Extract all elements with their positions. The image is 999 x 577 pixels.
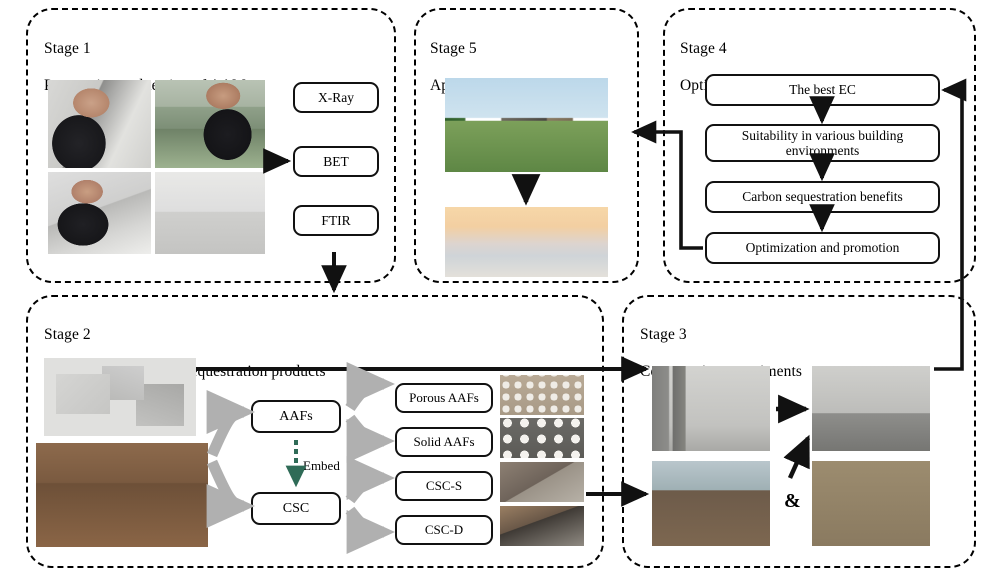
stage-3-photo-soil-panel — [812, 461, 930, 546]
stage-2-photo-blue-panels — [36, 443, 208, 547]
stage-2-label: Stage 2 — [44, 326, 91, 343]
stage-5-photo-skyline — [445, 207, 608, 277]
opt-step-best-ec[interactable]: The best EC — [705, 74, 940, 106]
stage-3-photo-greenhouse — [652, 461, 770, 546]
product-thumb-csc-s — [500, 462, 584, 502]
product-thumb-solid-aafs — [500, 418, 584, 458]
opt-step-benefits[interactable]: Carbon sequestration benefits — [705, 181, 940, 213]
stage-3-label: Stage 3 — [640, 326, 687, 343]
stage-3-ampersand: & — [784, 490, 801, 513]
product-thumb-csc-d — [500, 506, 584, 546]
test-box-xray[interactable]: X-Ray — [293, 82, 379, 113]
stage-1-label: Stage 1 — [44, 40, 91, 57]
stage-2-photo-blocks — [44, 358, 196, 436]
product-box-csc-s-label: CSC-S — [426, 479, 462, 494]
product-thumb-porous-aafs — [500, 375, 584, 415]
opt-step-best-ec-label: The best EC — [789, 82, 856, 97]
stage-1-photo-1 — [48, 80, 151, 168]
opt-step-benefits-label: Carbon sequestration benefits — [742, 189, 902, 204]
product-box-csc-d[interactable]: CSC-D — [395, 515, 493, 545]
opt-step-promotion-label: Optimization and promotion — [746, 240, 900, 255]
stage-1-photo-3 — [48, 172, 151, 254]
stage-3-photo-chamber — [652, 366, 770, 451]
embed-label: Embed — [303, 458, 340, 474]
intermediate-box-aafs[interactable]: AAFs — [251, 400, 341, 433]
test-box-ftir[interactable]: FTIR — [293, 205, 379, 236]
test-box-bet-label: BET — [323, 154, 349, 169]
intermediate-box-csc-label: CSC — [283, 501, 309, 517]
opt-step-suitability-label: Suitability in various building environm… — [710, 128, 935, 158]
opt-step-suitability[interactable]: Suitability in various building environm… — [705, 124, 940, 162]
stage-5-label: Stage 5 — [430, 40, 477, 57]
test-box-ftir-label: FTIR — [321, 213, 350, 228]
product-box-solid-aafs[interactable]: Solid AAFs — [395, 427, 493, 457]
intermediate-box-aafs-label: AAFs — [279, 409, 312, 425]
opt-step-promotion[interactable]: Optimization and promotion — [705, 232, 940, 264]
stage-3-photo-testing-machine — [812, 366, 930, 451]
stage-5-photo-building — [445, 78, 608, 172]
product-box-solid-aafs-label: Solid AAFs — [413, 435, 474, 450]
product-box-porous-aafs-label: Porous AAFs — [409, 391, 479, 406]
stage-1-photo-4 — [155, 172, 265, 254]
product-box-csc-s[interactable]: CSC-S — [395, 471, 493, 501]
test-box-bet[interactable]: BET — [293, 146, 379, 177]
stage-1-photo-2 — [155, 80, 265, 168]
stage-4-label: Stage 4 — [680, 40, 727, 57]
product-box-porous-aafs[interactable]: Porous AAFs — [395, 383, 493, 413]
test-box-xray-label: X-Ray — [318, 90, 354, 105]
intermediate-box-csc[interactable]: CSC — [251, 492, 341, 525]
product-box-csc-d-label: CSC-D — [425, 523, 463, 538]
